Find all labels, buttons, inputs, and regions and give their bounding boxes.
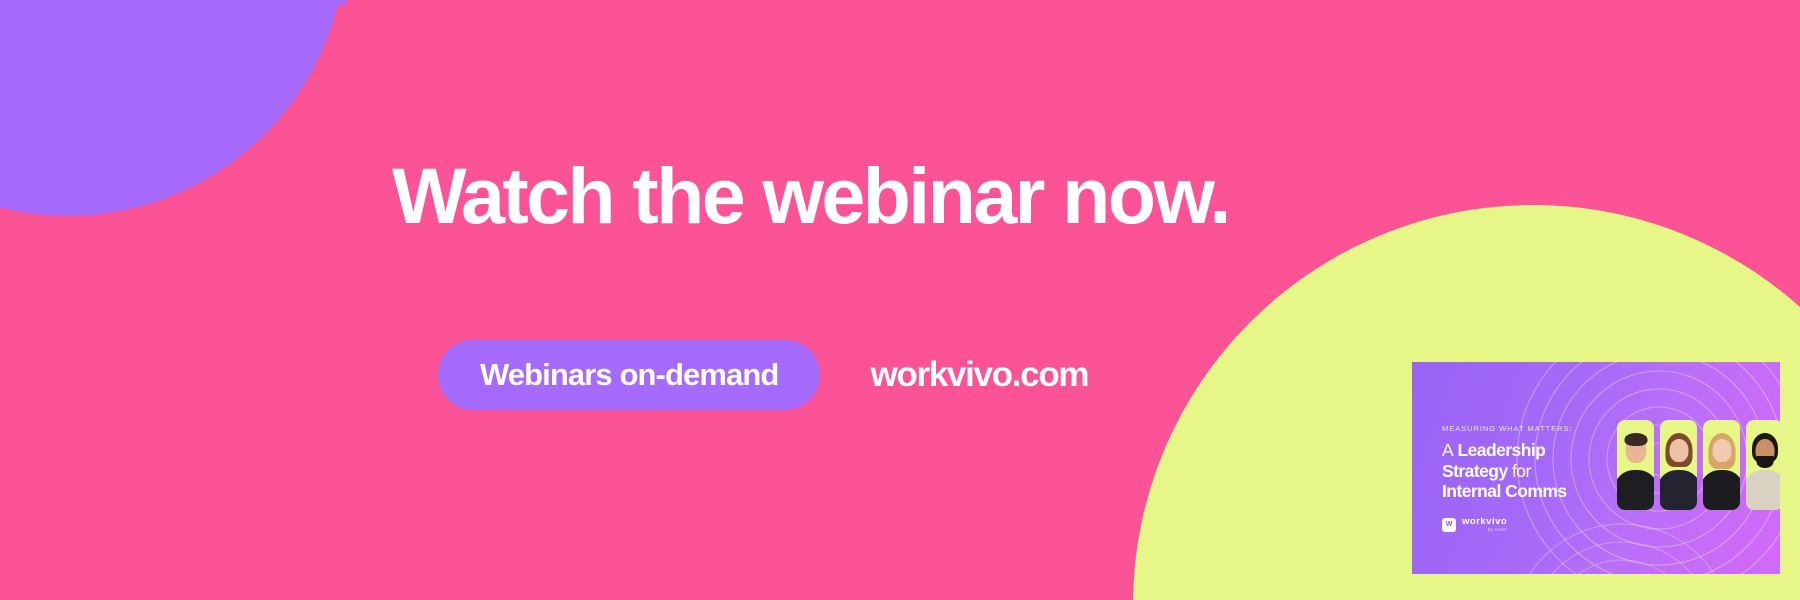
workvivo-logo-mark-icon: W (1442, 518, 1456, 532)
webinars-on-demand-button[interactable]: Webinars on-demand (438, 340, 820, 410)
card-title-strategy: Strategy (1442, 461, 1508, 481)
site-url-text: workvivo.com (870, 355, 1088, 395)
workvivo-logo-name: workvivo (1462, 517, 1507, 527)
speaker-headshots (1617, 420, 1780, 510)
page-title: Watch the webinar now. (392, 155, 1212, 238)
workvivo-logo: W workvivo by zoom (1442, 517, 1602, 533)
card-eyebrow: MEASURING WHAT MATTERS: (1442, 424, 1602, 433)
decorative-purple-blob (0, 0, 346, 216)
speaker-headshot-3 (1703, 420, 1740, 510)
speaker-headshot-2 (1660, 420, 1697, 510)
webinar-card[interactable]: MEASURING WHAT MATTERS: A Leadership Str… (1412, 362, 1780, 574)
card-text-block: MEASURING WHAT MATTERS: A Leadership Str… (1442, 424, 1602, 533)
speaker-headshot-4 (1746, 420, 1780, 510)
workvivo-logo-sub: by zoom (1488, 527, 1507, 533)
card-title: A Leadership Strategy for Internal Comms (1442, 440, 1602, 502)
card-title-leadership: Leadership (1457, 440, 1545, 460)
banner-stage: Watch the webinar now. Webinars on-deman… (0, 0, 1800, 600)
workvivo-logo-words: workvivo by zoom (1462, 517, 1507, 533)
card-title-for: for (1512, 461, 1531, 481)
cta-row: Webinars on-demand workvivo.com (438, 340, 1088, 410)
speaker-headshot-1 (1617, 420, 1654, 510)
card-title-a: A (1442, 440, 1453, 460)
card-title-internal-comms: Internal Comms (1442, 481, 1567, 501)
